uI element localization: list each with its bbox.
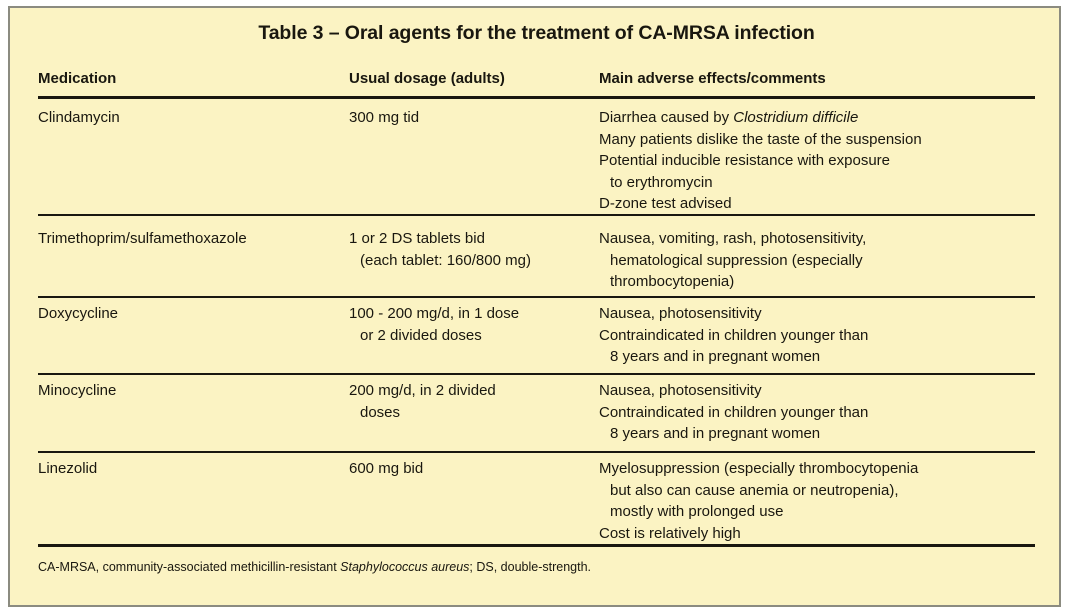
cell-medication: Trimethoprim/sulfamethoxazole — [38, 228, 247, 250]
effects-line: Myelosuppression (especially thrombocyto… — [599, 458, 918, 480]
effects-line: hematological suppression (especially — [599, 250, 866, 272]
cell-adverse-effects: Nausea, vomiting, rash, photosensitivity… — [599, 228, 866, 293]
table-inner: Table 3 – Oral agents for the treatment … — [38, 8, 1035, 605]
table-row: Trimethoprim/sulfamethoxazole1 or 2 DS t… — [38, 228, 1035, 296]
effects-line: to erythromycin — [599, 172, 922, 194]
table-footnote: CA-MRSA, community-associated methicilli… — [38, 559, 1035, 575]
table-title: Table 3 – Oral agents for the treatment … — [38, 22, 1035, 45]
effects-line: Cost is relatively high — [599, 523, 918, 545]
effects-line: D-zone test advised — [599, 193, 922, 215]
cell-medication: Doxycycline — [38, 303, 118, 325]
cell-dosage: 1 or 2 DS tablets bid(each tablet: 160/8… — [349, 228, 531, 271]
cell-medication: Minocycline — [38, 380, 116, 402]
table-row: Minocycline200 mg/d, in 2 divideddosesNa… — [38, 380, 1035, 450]
dosage-line: (each tablet: 160/800 mg) — [349, 250, 531, 272]
cell-dosage: 100 - 200 mg/d, in 1 doseor 2 divided do… — [349, 303, 519, 346]
cell-adverse-effects: Myelosuppression (especially thrombocyto… — [599, 458, 918, 544]
table-figure: Table 3 – Oral agents for the treatment … — [8, 6, 1061, 607]
effects-line: Contraindicated in children younger than — [599, 325, 868, 347]
cell-medication: Clindamycin — [38, 107, 120, 129]
table-rule — [38, 451, 1035, 453]
effects-line: but also can cause anemia or neutropenia… — [599, 480, 918, 502]
dosage-line: 200 mg/d, in 2 divided — [349, 380, 496, 402]
footnote-italic-term: Staphylococcus aureus — [340, 560, 469, 574]
effects-line: Nausea, vomiting, rash, photosensitivity… — [599, 228, 866, 250]
dosage-line: doses — [349, 402, 496, 424]
cell-adverse-effects: Diarrhea caused by Clostridium difficile… — [599, 107, 922, 215]
column-header-adverse-effects: Main adverse effects/comments — [599, 70, 826, 87]
column-header-dosage: Usual dosage (adults) — [349, 70, 505, 87]
effects-line: 8 years and in pregnant women — [599, 423, 868, 445]
table-rule — [38, 296, 1035, 298]
effects-line: Nausea, photosensitivity — [599, 380, 868, 402]
dosage-line: 1 or 2 DS tablets bid — [349, 228, 531, 250]
italic-term: Clostridium difficile — [733, 109, 858, 126]
effects-line: Potential inducible resistance with expo… — [599, 150, 922, 172]
dosage-line: or 2 divided doses — [349, 325, 519, 347]
table-row: Doxycycline100 - 200 mg/d, in 1 doseor 2… — [38, 303, 1035, 373]
effects-line: Contraindicated in children younger than — [599, 402, 868, 424]
table-row: Clindamycin300 mg tidDiarrhea caused by … — [38, 107, 1035, 211]
cell-adverse-effects: Nausea, photosensitivityContraindicated … — [599, 303, 868, 368]
cell-medication: Linezolid — [38, 458, 97, 480]
effects-line: mostly with prolonged use — [599, 501, 918, 523]
cell-dosage: 200 mg/d, in 2 divideddoses — [349, 380, 496, 423]
cell-adverse-effects: Nausea, photosensitivityContraindicated … — [599, 380, 868, 445]
dosage-line: 300 mg tid — [349, 107, 419, 129]
effects-line: 8 years and in pregnant women — [599, 346, 868, 368]
cell-dosage: 600 mg bid — [349, 458, 423, 480]
table-rule — [38, 96, 1035, 99]
column-header-medication: Medication — [38, 70, 116, 87]
effects-line: Diarrhea caused by Clostridium difficile — [599, 107, 922, 129]
dosage-line: 100 - 200 mg/d, in 1 dose — [349, 303, 519, 325]
effects-line: thrombocytopenia) — [599, 271, 866, 293]
effects-line: Nausea, photosensitivity — [599, 303, 868, 325]
dosage-line: 600 mg bid — [349, 458, 423, 480]
effects-line: Many patients dislike the taste of the s… — [599, 129, 922, 151]
table-rule — [38, 373, 1035, 375]
table-row: Linezolid600 mg bidMyelosuppression (esp… — [38, 458, 1035, 546]
cell-dosage: 300 mg tid — [349, 107, 419, 129]
